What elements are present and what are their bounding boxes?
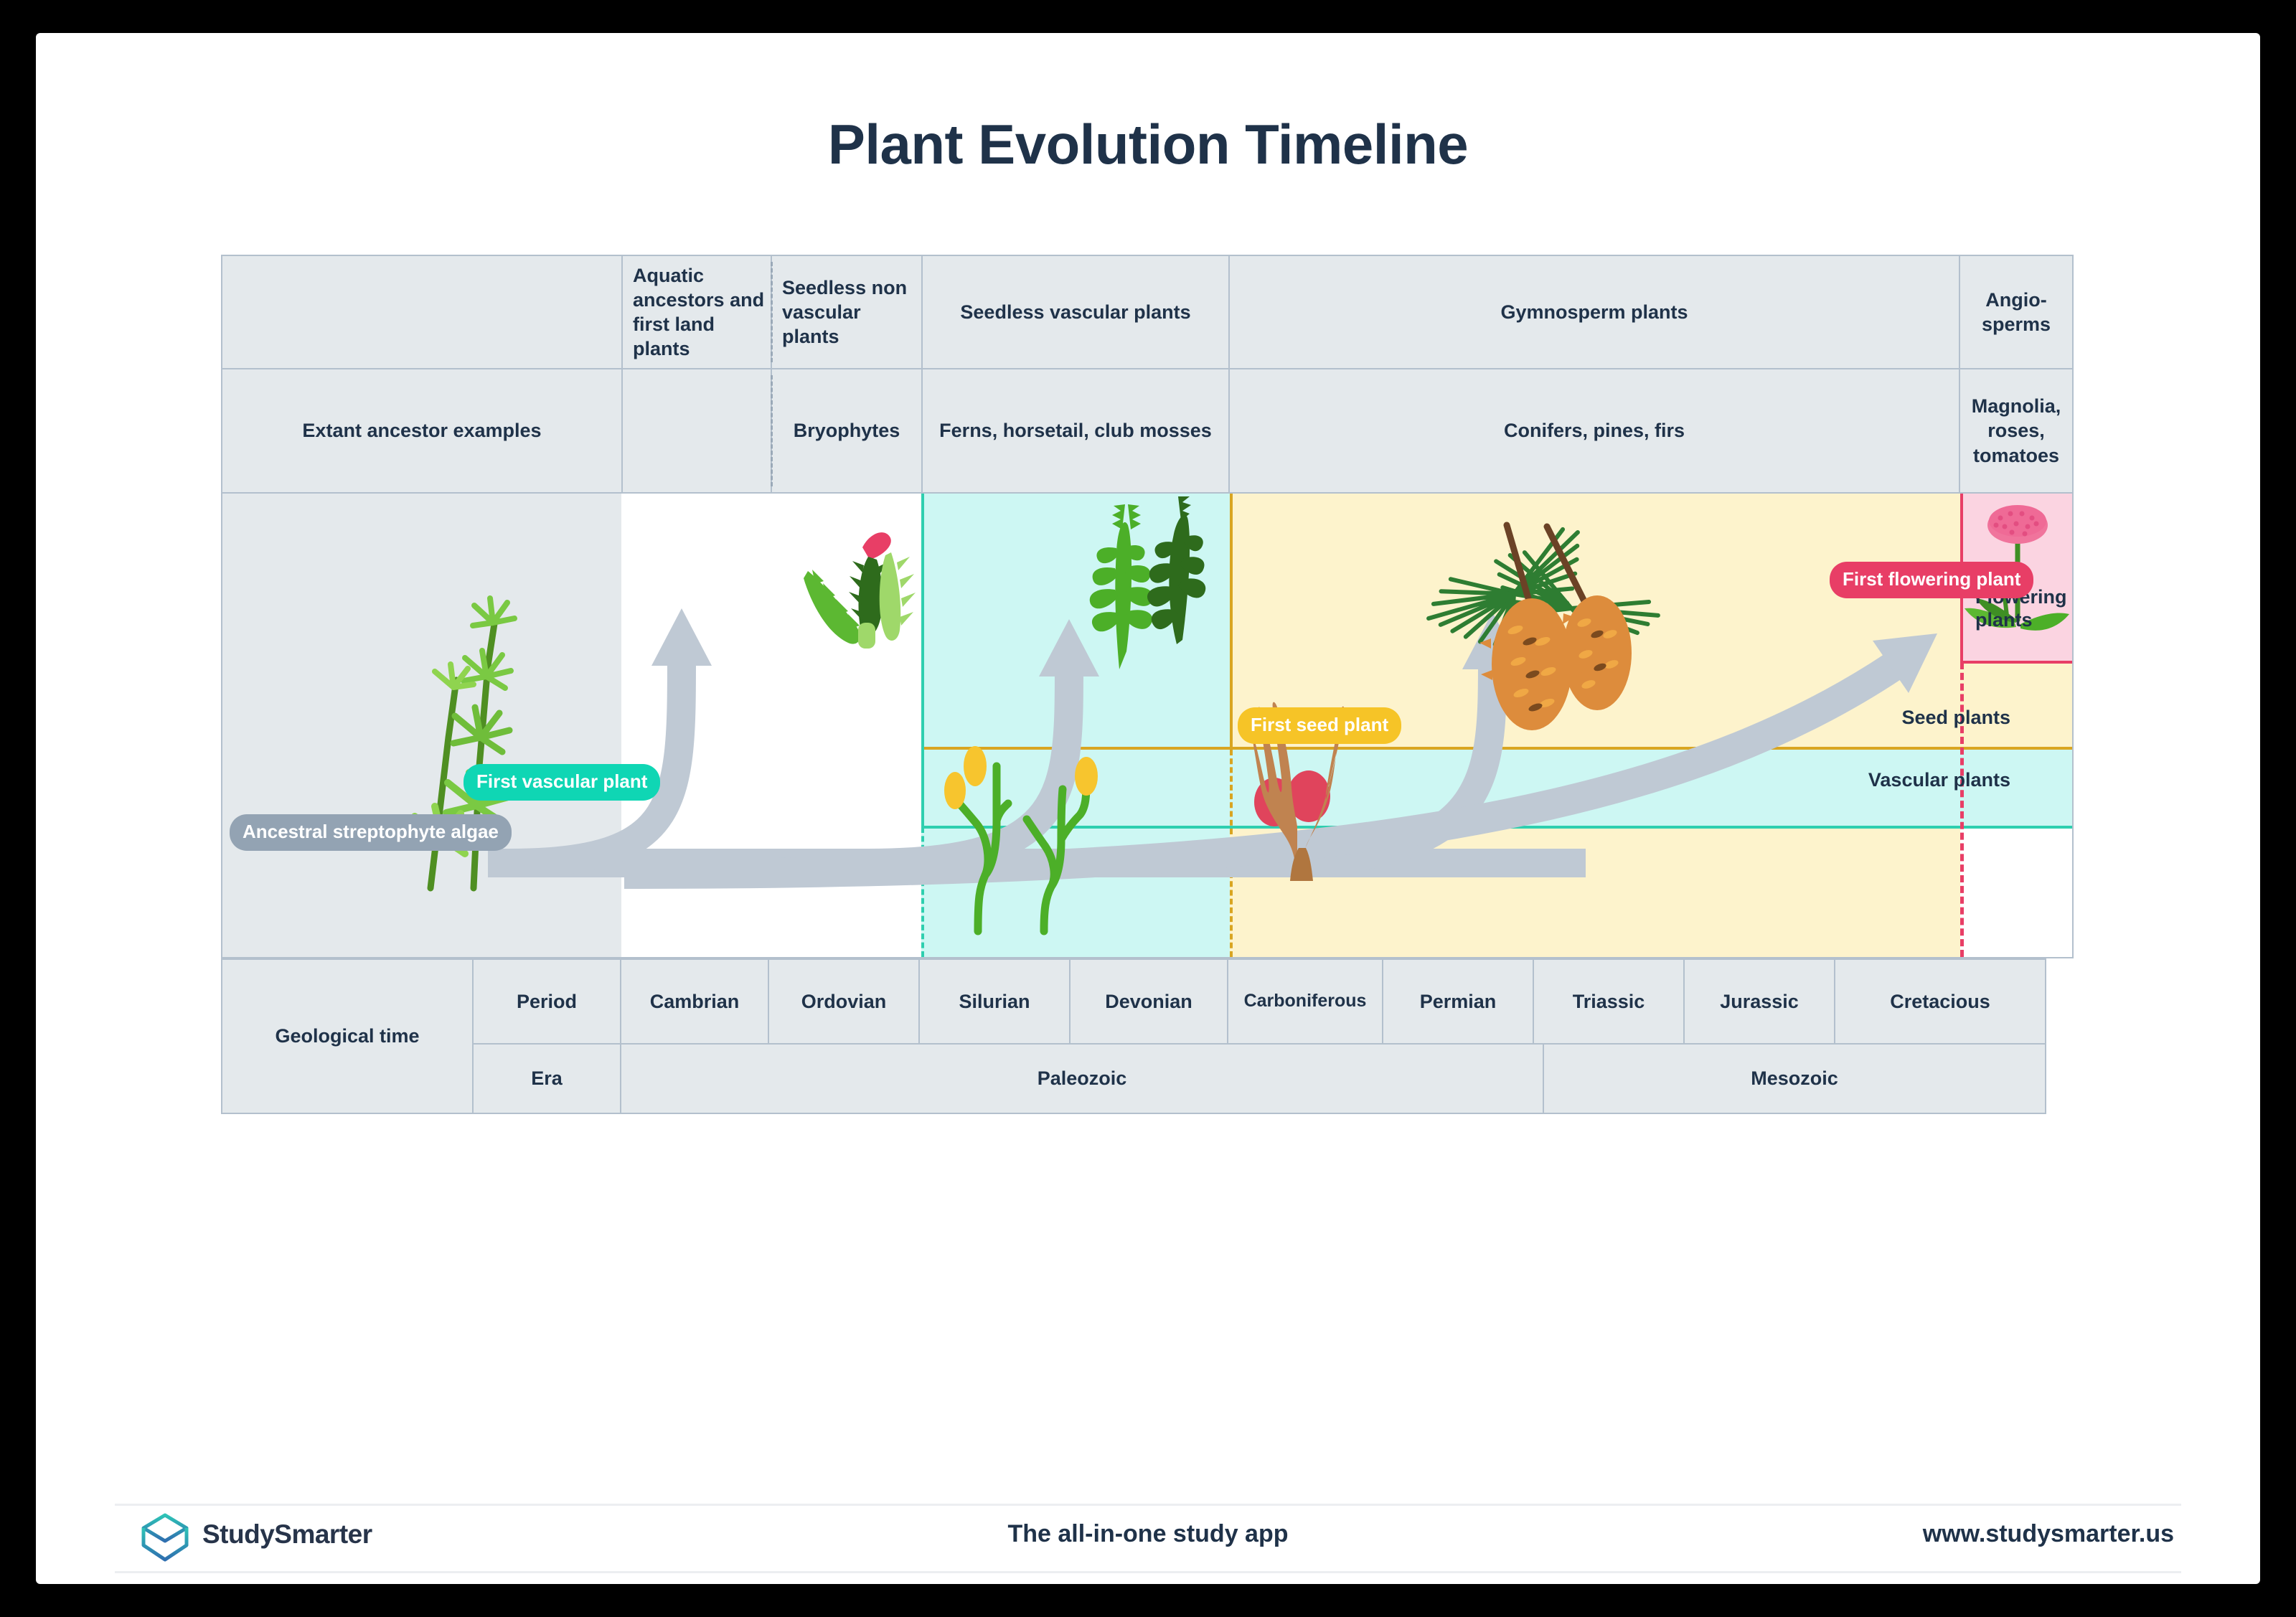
era-mesozoic: Mesozoic	[1543, 1043, 2046, 1114]
badge-ancestral-streptophyte-algae: Ancestral streptophyte algae	[230, 814, 512, 851]
group-header-aquatic-ancestors: Aquatic ancestors and first land plants	[621, 255, 772, 369]
group-header-gymnosperm: Gymnosperm plants	[1228, 255, 1960, 369]
badge-first-seed-plant: First seed plant	[1238, 707, 1401, 744]
badge-first-vascular-plant: First vascular plant	[464, 764, 660, 801]
period-ordovian: Ordovian	[768, 958, 920, 1045]
seed-fern-illustration	[1234, 673, 1378, 881]
era-row-label: Era	[472, 1043, 621, 1114]
period-permian: Permian	[1382, 958, 1534, 1045]
footer-divider-bottom	[115, 1571, 2181, 1573]
period-carboniferous: Carboniferous	[1227, 958, 1383, 1045]
bryophyte-moss-illustration	[789, 515, 940, 651]
rhyniophyte-illustration	[944, 745, 1101, 931]
period-cambrian: Cambrian	[620, 958, 769, 1045]
examples-conifers: Conifers, pines, firs	[1228, 368, 1960, 494]
evolution-plot: Seed plants Vascular plants Flowering pl…	[221, 492, 2074, 958]
period-silurian: Silurian	[918, 958, 1071, 1045]
plant-evolution-diagram: Aquatic ancestors and first land plants …	[221, 255, 2074, 1351]
examples-ferns: Ferns, horsetail, club mosses	[921, 368, 1230, 494]
badge-first-flowering-plant: First flowering plant	[1830, 562, 2033, 598]
zone-label-vascular-plants: Vascular plants	[1868, 768, 2010, 791]
page-title: Plant Evolution Timeline	[36, 112, 2260, 177]
period-triassic: Triassic	[1533, 958, 1685, 1045]
examples-header-label: Extant ancestor examples	[221, 368, 623, 494]
group-header-angiosperms: Angio-sperms	[1959, 255, 2074, 369]
group-header-seedless-vascular: Seedless vascular plants	[921, 255, 1230, 369]
examples-magnolia: Magnolia, roses, tomatoes	[1959, 368, 2074, 494]
zone-label-seed-plants: Seed plants	[1901, 706, 2010, 729]
footer-divider-top	[115, 1504, 2181, 1506]
period-cretacious: Cretacious	[1834, 958, 2046, 1045]
period-devonian: Devonian	[1069, 958, 1228, 1045]
period-row-label: Period	[472, 958, 621, 1045]
examples-divider-dashed	[771, 375, 773, 486]
header-divider-dashed	[771, 262, 773, 362]
group-header-empty	[221, 255, 623, 369]
examples-bryophytes: Bryophytes	[771, 368, 923, 494]
cycad-cone-illustration	[1406, 501, 1643, 723]
era-paleozoic: Paleozoic	[620, 1043, 1544, 1114]
fern-illustration	[1069, 508, 1234, 673]
geological-time-header: Geological time	[221, 958, 474, 1114]
examples-aquatic	[621, 368, 772, 494]
period-jurassic: Jurassic	[1683, 958, 1835, 1045]
group-header-seedless-nonvascular: Seedless non vascular plants	[771, 255, 923, 369]
page-canvas: Plant Evolution Timeline Aquatic ancesto…	[36, 33, 2260, 1584]
footer-url: www.studysmarter.us	[1923, 1520, 2174, 1548]
